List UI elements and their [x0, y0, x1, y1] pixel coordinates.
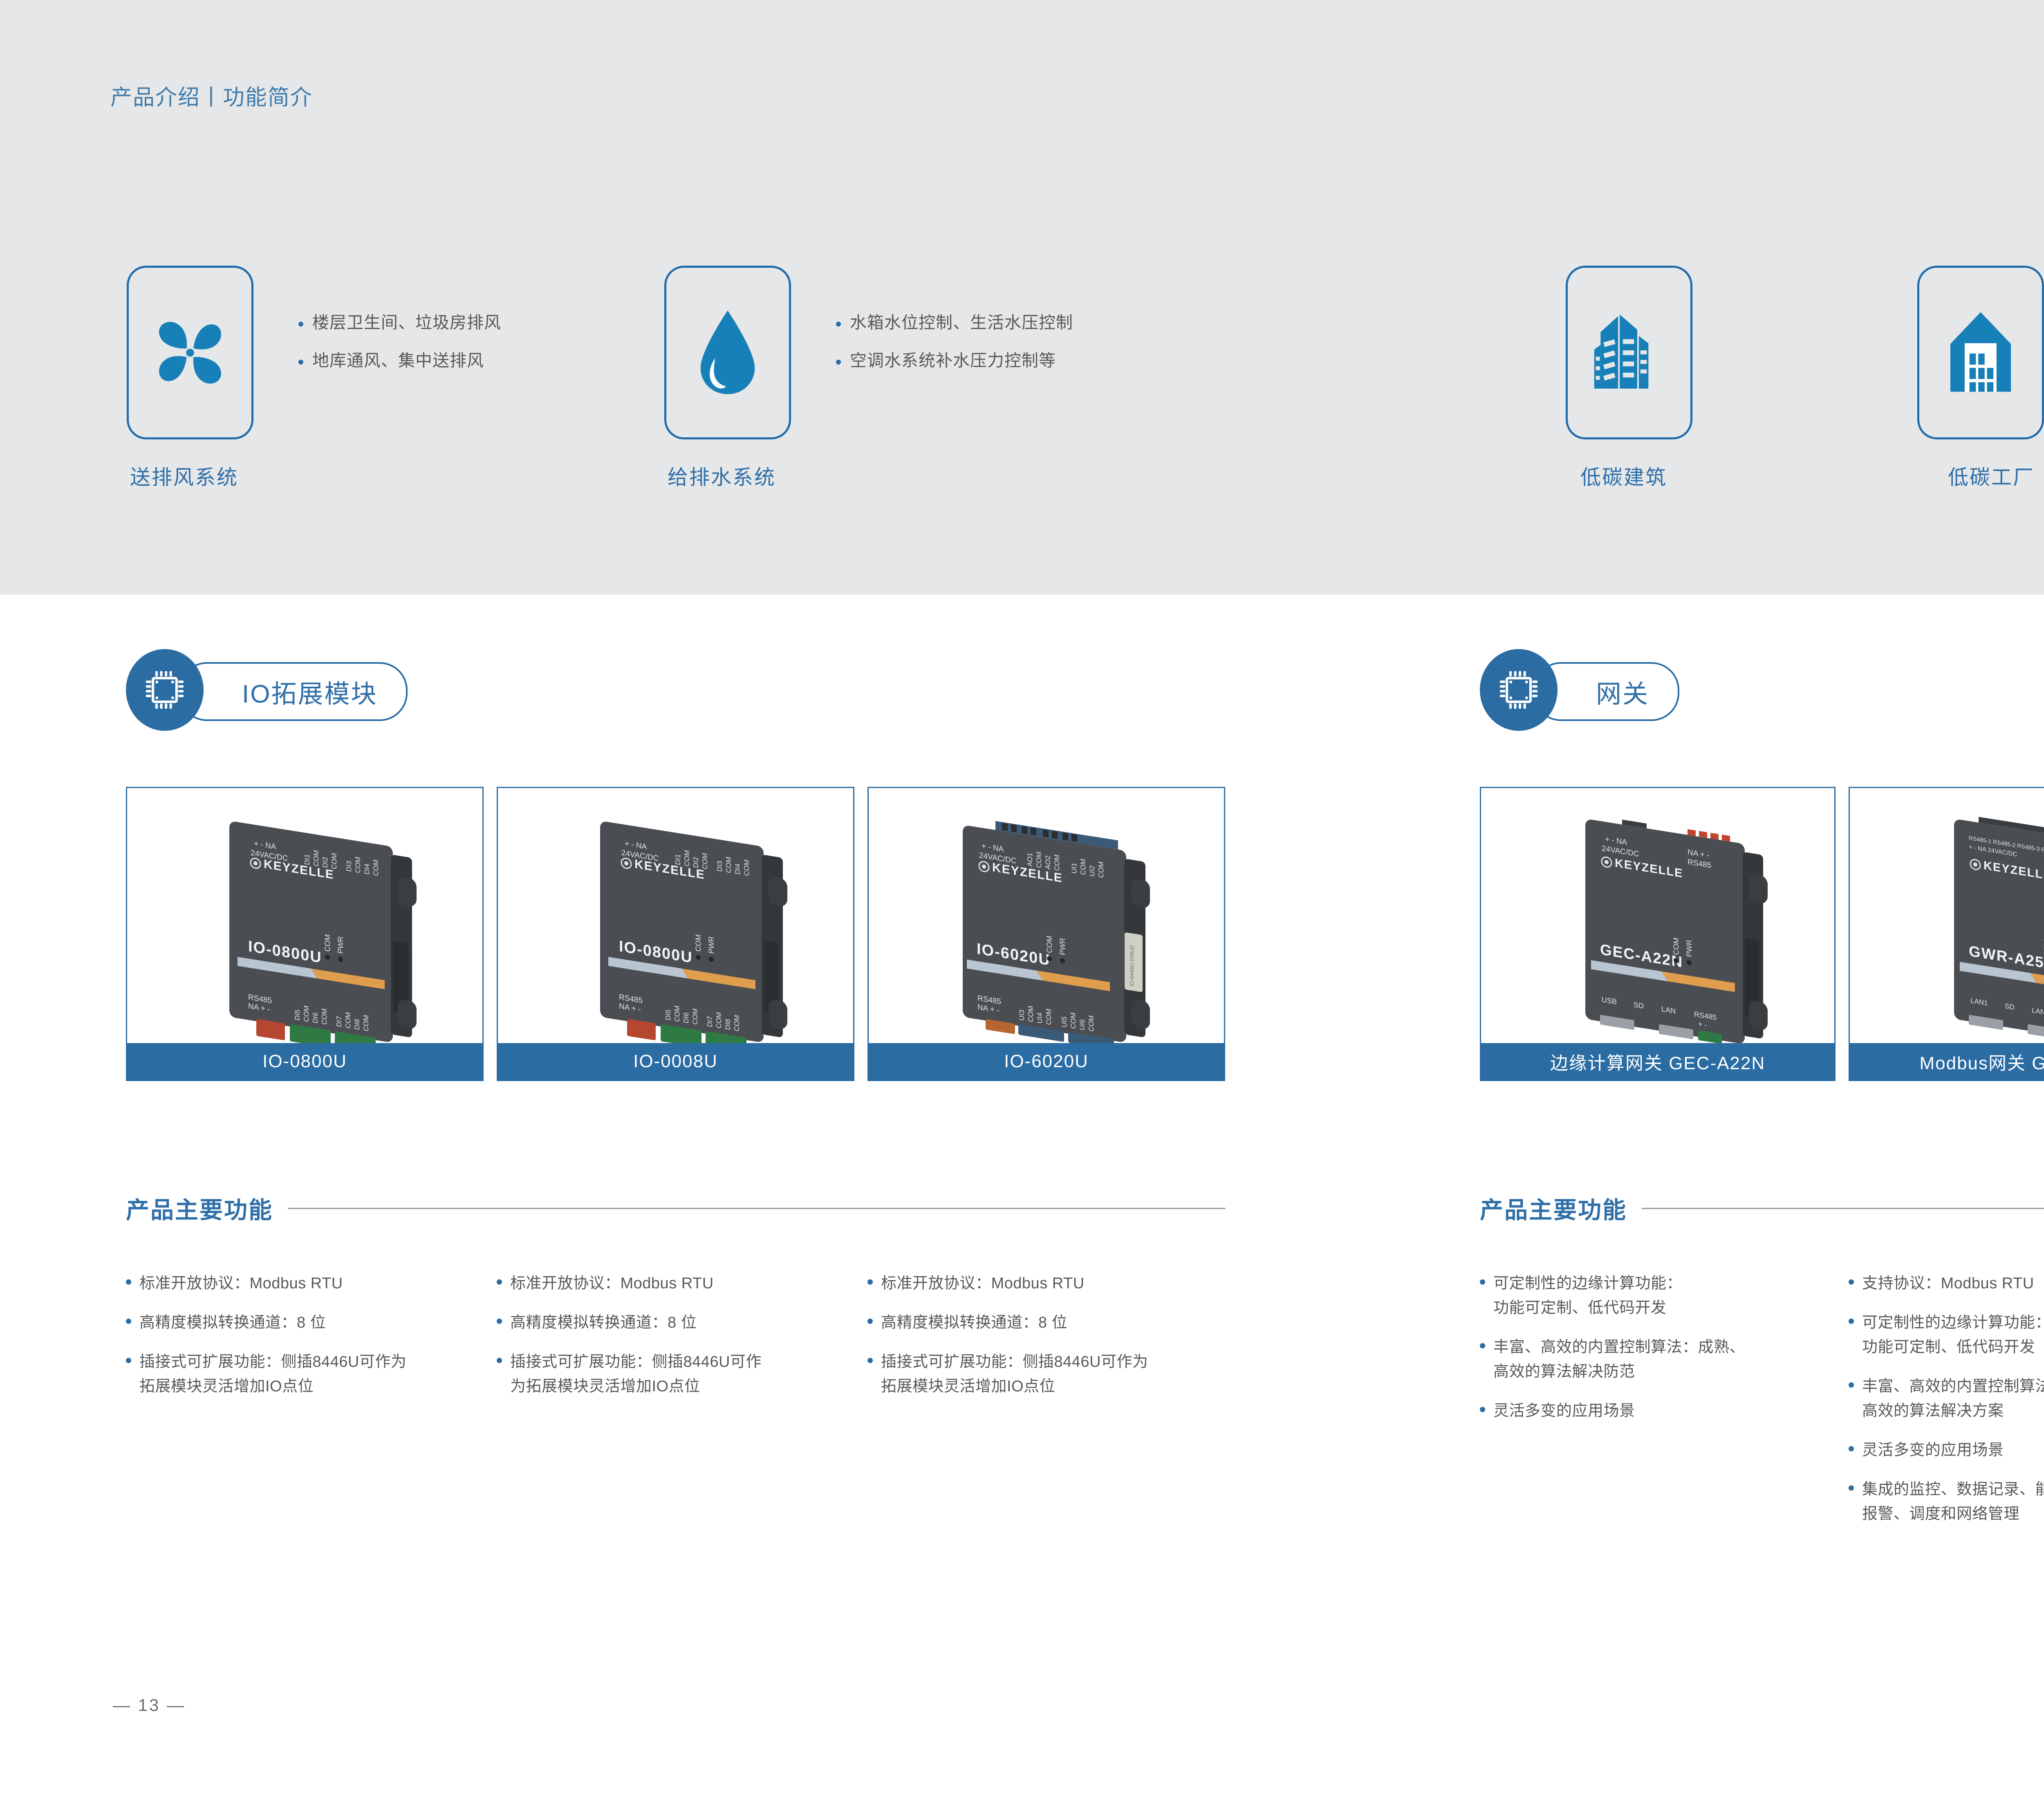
bullet-dot: [126, 1279, 131, 1285]
features-header-io: 产品主要功能: [126, 1191, 1226, 1225]
factory-icon-frame: [1917, 266, 2044, 439]
svg-text:COM: COM: [1079, 858, 1087, 876]
bullet-dot: [1480, 1407, 1485, 1412]
svg-text:COM: COM: [673, 1005, 681, 1023]
svg-text:SD: SD: [1634, 1001, 1644, 1010]
feature-text: 高精度模拟转换通道：8 位: [510, 1310, 697, 1335]
bullet-text: 楼层卫生间、垃圾房排风: [312, 313, 501, 333]
feature-item: 插接式可扩展功能：侧插8446U可作为拓展模块灵活增加IO点位: [867, 1350, 1227, 1399]
feature-item: 集成的监控、数据记录、能耗计量、报警、调度和网络管理: [1849, 1477, 2044, 1526]
product-photo: + - NA 24VAC/DC DI1 COM DI2 COM DI3 COM …: [127, 788, 482, 1043]
section-header-gateways: 网关: [1480, 649, 1709, 731]
svg-text:COM: COM: [1087, 1015, 1095, 1032]
svg-text:COM: COM: [725, 856, 733, 874]
svg-text:DI3: DI3: [345, 860, 353, 872]
product-photo: + - NA 24VAC/DC NA + - RS485 KEYZELLE GE…: [1481, 788, 1834, 1043]
svg-text:COM: COM: [362, 1014, 370, 1032]
water-drop-icon-frame: [664, 266, 791, 439]
svg-text:PWR: PWR: [336, 936, 345, 954]
svg-text:COM: COM: [1053, 854, 1061, 871]
svg-text:UI6: UI6: [1078, 1019, 1086, 1030]
bullet-dot: [867, 1358, 873, 1363]
feature-item: 丰富、高效的内置控制算法：成熟、高效的算法解决防范: [1480, 1335, 1819, 1384]
feature-text: 标准开放协议：Modbus RTU: [139, 1271, 343, 1296]
section-pill-bar: IO拓展模块: [179, 662, 408, 721]
feature-column: 可定制性的边缘计算功能： 功能可定制、低代码开发 丰富、高效的内置控制算法：成熟…: [1480, 1271, 1819, 1438]
factory-icon: [1919, 268, 2042, 437]
svg-text:DI3: DI3: [716, 860, 724, 872]
feature-text: 灵活多变的应用场景: [1493, 1399, 1635, 1423]
feature-item: 标准开放协议：Modbus RTU: [126, 1271, 477, 1296]
feature-text: 高精度模拟转换通道：8 位: [139, 1310, 326, 1335]
feature-text: 集成的监控、数据记录、能耗计量、报警、调度和网络管理: [1862, 1477, 2044, 1526]
features-title: 产品主要功能: [126, 1191, 273, 1225]
svg-text:DI7: DI7: [706, 1016, 714, 1028]
svg-text:UI5: UI5: [1060, 1016, 1068, 1028]
svg-text:UI2: UI2: [1088, 865, 1096, 877]
svg-text:COM: COM: [323, 934, 332, 952]
scenario-bullets-1: 水箱水位控制、生活水压控制 空调水系统补水压力控制等: [836, 313, 1073, 389]
bullet-dot: [1849, 1279, 1854, 1285]
bullet-dot: [126, 1319, 131, 1324]
feature-column: 标准开放协议：Modbus RTU 高精度模拟转换通道：8 位 插接式可扩展功能…: [497, 1271, 848, 1413]
bullet-text: 水箱水位控制、生活水压控制: [850, 313, 1073, 333]
feature-item: 插接式可扩展功能：侧插8446U可作为拓展模块灵活增加IO点位: [497, 1350, 848, 1399]
product-photo: IO-8446U-100UD + - NA 24VAC/DC AO1 COM A…: [869, 788, 1224, 1043]
feature-column: 标准开放协议：Modbus RTU 高精度模拟转换通道：8 位 插接式可扩展功能…: [867, 1271, 1227, 1413]
svg-text:COM: COM: [1045, 1008, 1053, 1026]
svg-text:COM: COM: [691, 1008, 699, 1026]
feature-text: 高精度模拟转换通道：8 位: [881, 1310, 1067, 1335]
bullet-dot: [1849, 1485, 1854, 1491]
chip-icon: [126, 649, 204, 731]
feature-item: 支持协议：Modbus RTU: [1849, 1271, 2044, 1296]
svg-text:DI8: DI8: [724, 1019, 732, 1030]
product-card[interactable]: + - NA 24VAC/DC DI1 COM DI2 COM DI3 COM …: [497, 787, 854, 1081]
features-rule: [288, 1208, 1226, 1209]
svg-text:UI4: UI4: [1036, 1012, 1044, 1024]
page-number-left: — 13 —: [113, 1695, 186, 1715]
running-head-left: 产品介绍丨功能简介: [110, 80, 313, 111]
bullet-item: 水箱水位控制、生活水压控制: [836, 313, 1073, 333]
bullet-dot: [1480, 1279, 1485, 1285]
svg-text:DI4: DI4: [363, 863, 371, 875]
svg-text:COM: COM: [1035, 851, 1043, 869]
feature-text: 丰富、高效的内置控制算法：成熟、高效的算法解决方案: [1862, 1374, 2044, 1423]
bullet-dot: [126, 1358, 131, 1363]
svg-text:UI1: UI1: [1070, 862, 1078, 874]
svg-text:AO2: AO2: [1044, 855, 1052, 870]
svg-text:AO1: AO1: [1026, 852, 1034, 867]
product-caption: Modbus网关 GWR-A25N: [1850, 1043, 2044, 1080]
svg-text:COM: COM: [1069, 1012, 1077, 1030]
feature-text: 丰富、高效的内置控制算法：成熟、高效的算法解决防范: [1493, 1335, 1745, 1384]
svg-text:COM: COM: [320, 1008, 328, 1026]
svg-text:DI5: DI5: [294, 1009, 301, 1021]
product-caption: IO-0800U: [127, 1043, 482, 1080]
product-card[interactable]: + - NA 24VAC/DC NA + - RS485 KEYZELLE GE…: [1480, 787, 1836, 1081]
bullet-dot: [1480, 1343, 1485, 1348]
feature-text: 灵活多变的应用场景: [1862, 1438, 2004, 1462]
svg-text:COM: COM: [372, 859, 380, 877]
bullet-dot: [867, 1279, 873, 1285]
svg-text:COM: COM: [694, 934, 702, 952]
product-photo: + - NA 24VAC/DC DI1 COM DI2 COM DI3 COM …: [498, 788, 853, 1043]
svg-text:COM: COM: [1045, 935, 1053, 954]
product-card[interactable]: RS485-1 RS485-2 RS485-3 RS485-4 + - NA 2…: [1849, 787, 2044, 1081]
svg-text:COM: COM: [701, 852, 709, 870]
scenario-label-0: 送排风系统: [130, 461, 238, 490]
svg-text:COM: COM: [1672, 937, 1680, 956]
application-label-1: 低碳工厂: [1948, 461, 2035, 490]
office-building-icon: [1568, 268, 1690, 437]
bullet-dot: [1849, 1382, 1854, 1388]
feature-item: 插接式可扩展功能：侧插8446U可作为拓展模块灵活增加IO点位: [126, 1350, 477, 1399]
feature-text: 标准开放协议：Modbus RTU: [510, 1271, 714, 1296]
svg-text:PWR: PWR: [1685, 939, 1693, 958]
scenario-bullets-0: 楼层卫生间、垃圾房排风 地库通风、集中送排风: [298, 313, 501, 389]
feature-item: 标准开放协议：Modbus RTU: [867, 1271, 1227, 1296]
feature-column: 支持协议：Modbus RTU 可定制性的边缘计算功能：功能可定制、低代码开发 …: [1849, 1271, 2044, 1541]
feature-item: 标准开放协议：Modbus RTU: [497, 1271, 848, 1296]
bullet-item: 地库通风、集中送排风: [298, 351, 501, 371]
bullet-text: 空调水系统补水压力控制等: [850, 351, 1056, 371]
product-photo: RS485-1 RS485-2 RS485-3 RS485-4 + - NA 2…: [1850, 788, 2044, 1043]
svg-text:COM: COM: [2042, 939, 2044, 957]
chip-icon: [1480, 649, 1558, 731]
bullet-text: 地库通风、集中送排风: [312, 351, 484, 371]
feature-item: 灵活多变的应用场景: [1849, 1438, 2044, 1462]
bullet-item: 楼层卫生间、垃圾房排风: [298, 313, 501, 333]
feature-text: 可定制性的边缘计算功能：功能可定制、低代码开发: [1862, 1310, 2044, 1359]
svg-text:COM: COM: [733, 1014, 741, 1032]
fan-icon-frame: [127, 266, 253, 439]
features-title: 产品主要功能: [1480, 1191, 1627, 1225]
bullet-dot: [497, 1358, 502, 1363]
bullet-dot: [298, 360, 303, 365]
feature-text: 可定制性的边缘计算功能： 功能可定制、低代码开发: [1493, 1271, 1682, 1320]
bullet-dot: [497, 1279, 502, 1285]
product-card[interactable]: IO-8446U-100UD + - NA 24VAC/DC AO1 COM A…: [867, 787, 1225, 1081]
features-rule: [1642, 1208, 2044, 1209]
section-title: 网关: [1596, 673, 1649, 710]
feature-item: 可定制性的边缘计算功能： 功能可定制、低代码开发: [1480, 1271, 1819, 1320]
fan-icon: [129, 268, 251, 437]
svg-text:PWR: PWR: [707, 936, 715, 954]
svg-text:DI8: DI8: [353, 1019, 361, 1030]
svg-text:COM: COM: [715, 1012, 723, 1029]
feature-item: 丰富、高效的内置控制算法：成熟、高效的算法解决方案: [1849, 1374, 2044, 1423]
section-title: IO拓展模块: [242, 673, 377, 710]
bullet-dot: [867, 1319, 873, 1324]
feature-text: 插接式可扩展功能：侧插8446U可作为拓展模块灵活增加IO点位: [510, 1350, 762, 1399]
feature-text: 标准开放协议：Modbus RTU: [881, 1271, 1085, 1296]
svg-text:DI6: DI6: [682, 1012, 690, 1023]
feature-item: 可定制性的边缘计算功能：功能可定制、低代码开发: [1849, 1310, 2044, 1359]
svg-text:DI5: DI5: [664, 1009, 672, 1021]
feature-text: 支持协议：Modbus RTU: [1862, 1271, 2034, 1296]
svg-text:COM: COM: [303, 1005, 310, 1023]
application-label-0: 低碳建筑: [1580, 461, 1667, 490]
svg-text:DI6: DI6: [312, 1012, 319, 1023]
svg-text:COM: COM: [1027, 1005, 1035, 1023]
svg-text:COM: COM: [354, 856, 362, 874]
svg-text:DI4: DI4: [734, 863, 742, 875]
svg-text:COM: COM: [312, 850, 320, 867]
product-caption: IO-0008U: [498, 1043, 853, 1080]
feature-item: 高精度模拟转换通道：8 位: [497, 1310, 848, 1335]
feature-item: 灵活多变的应用场景: [1480, 1399, 1819, 1423]
bullet-dot: [1849, 1319, 1854, 1324]
svg-text:COM: COM: [344, 1012, 352, 1029]
bullet-dot: [497, 1319, 502, 1324]
water-drop-icon: [666, 268, 789, 437]
svg-text:DI7: DI7: [335, 1016, 343, 1028]
section-header-io-modules: IO拓展模块: [126, 649, 437, 731]
feature-text: 插接式可扩展功能：侧插8446U可作为拓展模块灵活增加IO点位: [881, 1350, 1148, 1399]
svg-text:+ -: + -: [1698, 1020, 1707, 1029]
bullet-dot: [1849, 1446, 1854, 1451]
bullet-dot: [836, 360, 841, 365]
product-card[interactable]: + - NA 24VAC/DC DI1 COM DI2 COM DI3 COM …: [126, 787, 484, 1081]
feature-text: 插接式可扩展功能：侧插8446U可作为拓展模块灵活增加IO点位: [139, 1350, 406, 1399]
feature-item: 高精度模拟转换通道：8 位: [867, 1310, 1227, 1335]
scenario-label-1: 给排水系统: [668, 461, 776, 490]
svg-text:UI3: UI3: [1018, 1009, 1026, 1021]
svg-text:IO-8446U-100UD: IO-8446U-100UD: [1129, 945, 1135, 987]
product-caption: IO-6020U: [869, 1043, 1224, 1080]
svg-text:PWR: PWR: [1058, 937, 1067, 956]
svg-text:COM: COM: [743, 859, 751, 877]
bullet-dot: [298, 322, 303, 327]
svg-text:COM: COM: [330, 852, 338, 870]
feature-column: 标准开放协议：Modbus RTU 高精度模拟转换通道：8 位 插接式可扩展功能…: [126, 1271, 477, 1413]
svg-text:COM: COM: [1097, 861, 1105, 878]
product-caption: 边缘计算网关 GEC-A22N: [1481, 1043, 1834, 1080]
bullet-dot: [836, 322, 841, 327]
svg-text:COM: COM: [683, 850, 691, 867]
svg-text:SD: SD: [2005, 1002, 2015, 1012]
feature-item: 高精度模拟转换通道：8 位: [126, 1310, 477, 1335]
bullet-item: 空调水系统补水压力控制等: [836, 351, 1073, 371]
features-header-gateways: 产品主要功能: [1480, 1191, 2044, 1225]
office-building-icon-frame: [1566, 266, 1692, 439]
